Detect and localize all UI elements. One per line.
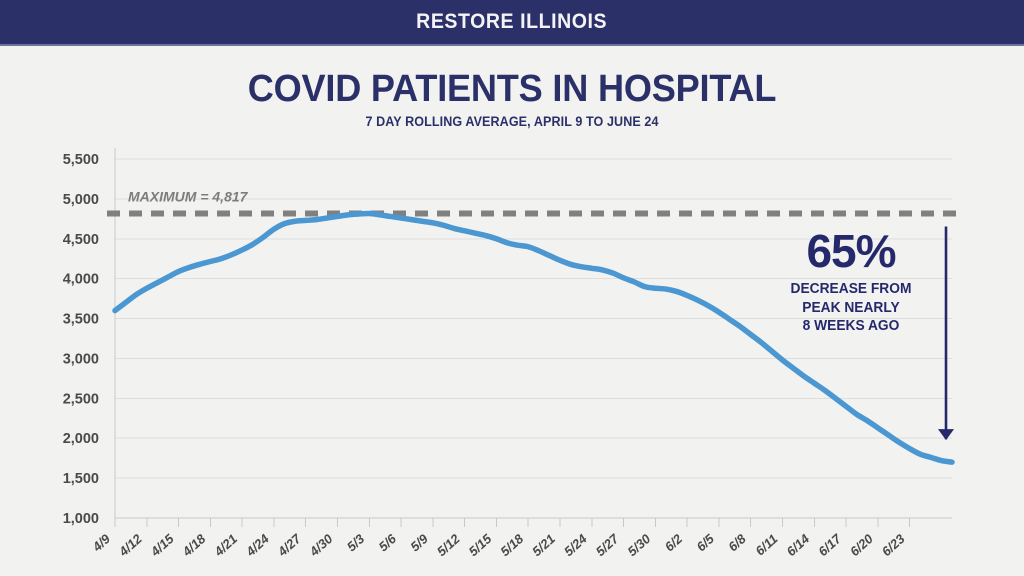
y-tick-label: 3,000 <box>63 351 99 367</box>
x-tick-label: 6/11 <box>752 531 780 558</box>
callout-description: DECREASE FROM PEAK NEARLY 8 WEEKS AGO <box>774 280 928 336</box>
x-tick-label: 5/3 <box>344 531 368 555</box>
page-subtitle: 7 DAY ROLLING AVERAGE, APRIL 9 TO JUNE 2… <box>36 114 988 129</box>
x-axis-ticks-group <box>115 518 910 527</box>
banner-divider <box>0 44 1024 46</box>
y-tick-label: 4,500 <box>63 232 99 248</box>
maximum-annotation-label: MAXIMUM = 4,817 <box>128 188 249 204</box>
x-tick-label: 4/9 <box>89 531 114 555</box>
y-tick-label: 5,000 <box>63 192 99 208</box>
x-tick-label: 6/8 <box>725 531 749 555</box>
x-tick-label: 6/17 <box>815 531 844 560</box>
x-tick-label: 5/15 <box>466 531 495 560</box>
callout-down-arrow <box>938 226 954 440</box>
x-tick-label: 6/5 <box>693 531 717 555</box>
line-chart-svg: 1,0001,5002,0002,5003,0003,5004,0004,500… <box>0 140 1024 576</box>
x-axis-labels-group: 4/94/124/154/184/214/244/274/305/35/65/9… <box>89 531 908 560</box>
y-tick-label: 5,500 <box>63 152 99 168</box>
x-tick-label: 6/20 <box>847 531 876 560</box>
callout-annotation: 65% DECREASE FROM PEAK NEARLY 8 WEEKS AG… <box>770 228 932 336</box>
x-tick-label: 6/14 <box>783 531 812 560</box>
x-tick-label: 5/24 <box>561 531 590 560</box>
y-axis-labels-group: 1,0001,5002,0002,5003,0003,5004,0004,500… <box>63 152 99 527</box>
callout-percent: 65% <box>770 228 932 274</box>
x-tick-label: 5/12 <box>434 531 463 560</box>
y-tick-label: 2,500 <box>63 391 99 407</box>
x-tick-label: 4/24 <box>242 531 272 560</box>
x-tick-label: 5/6 <box>376 531 400 555</box>
x-tick-label: 5/30 <box>625 531 654 560</box>
y-tick-label: 1,500 <box>63 471 99 487</box>
x-tick-label: 5/27 <box>593 531 622 560</box>
page-title: COVID PATIENTS IN HOSPITAL <box>26 68 999 111</box>
x-tick-label: 5/9 <box>407 531 431 555</box>
x-tick-label: 4/18 <box>179 531 209 560</box>
callout-line-2: PEAK NEARLY <box>774 299 928 318</box>
x-tick-label: 5/21 <box>529 531 558 559</box>
banner-title: RESTORE ILLINOIS <box>417 10 608 34</box>
x-tick-label: 4/15 <box>147 531 177 560</box>
callout-line-3: 8 WEEKS AGO <box>774 317 928 336</box>
x-tick-label: 4/30 <box>306 531 336 560</box>
x-tick-label: 5/18 <box>497 531 526 560</box>
y-tick-label: 4,000 <box>63 272 99 288</box>
x-tick-label: 4/12 <box>115 531 145 560</box>
y-tick-label: 1,000 <box>63 511 99 527</box>
x-tick-label: 4/27 <box>274 531 304 560</box>
callout-line-1: DECREASE FROM <box>774 280 928 299</box>
restore-illinois-banner: RESTORE ILLINOIS <box>0 0 1024 44</box>
y-tick-label: 3,500 <box>63 312 99 328</box>
x-tick-label: 4/21 <box>211 531 241 560</box>
chart-page: RESTORE ILLINOIS COVID PATIENTS IN HOSPI… <box>0 0 1024 576</box>
x-tick-label: 6/23 <box>879 531 908 560</box>
chart-plot-area: 1,0001,5002,0002,5003,0003,5004,0004,500… <box>0 140 1024 576</box>
x-tick-label: 6/2 <box>662 531 686 555</box>
y-tick-label: 2,000 <box>63 431 99 447</box>
